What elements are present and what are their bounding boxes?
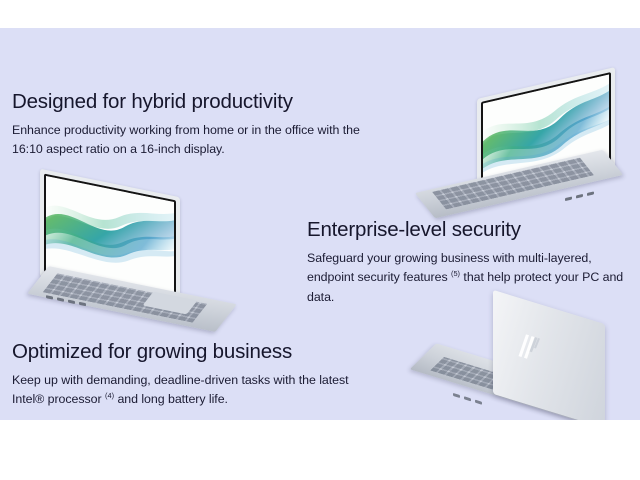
feature-description: Enhance productivity working from home o… [12,121,362,159]
feature-block-hybrid-productivity: Designed for hybrid productivity Enhance… [12,90,362,160]
footnote-marker: (4) [105,391,114,400]
laptop-lid [493,290,605,420]
feature-heading: Designed for hybrid productivity [12,90,362,114]
feature-description: Safeguard your growing business with mul… [307,249,632,307]
promo-panel: Designed for hybrid productivity Enhance… [0,28,640,420]
laptop-ports [453,393,493,411]
feature-heading: Optimized for growing business [12,340,357,364]
screenshot-stage: Designed for hybrid productivity Enhance… [0,0,640,480]
product-image-laptop-lid-bottom-right [415,303,630,420]
product-image-laptop-open-top-right [425,83,625,208]
product-image-laptop-open-left [28,183,233,318]
feature-description-text-cont: and long battery life. [114,393,228,407]
feature-block-growing-business: Optimized for growing business Keep up w… [12,340,357,410]
feature-heading: Enterprise-level security [307,218,632,242]
feature-description: Keep up with demanding, deadline-driven … [12,371,357,410]
footnote-marker: (5) [451,269,460,278]
feature-description-text: Enhance productivity working from home o… [12,123,360,156]
feature-block-enterprise-security: Enterprise-level security Safeguard your… [307,218,632,307]
laptop-ports [565,188,609,204]
